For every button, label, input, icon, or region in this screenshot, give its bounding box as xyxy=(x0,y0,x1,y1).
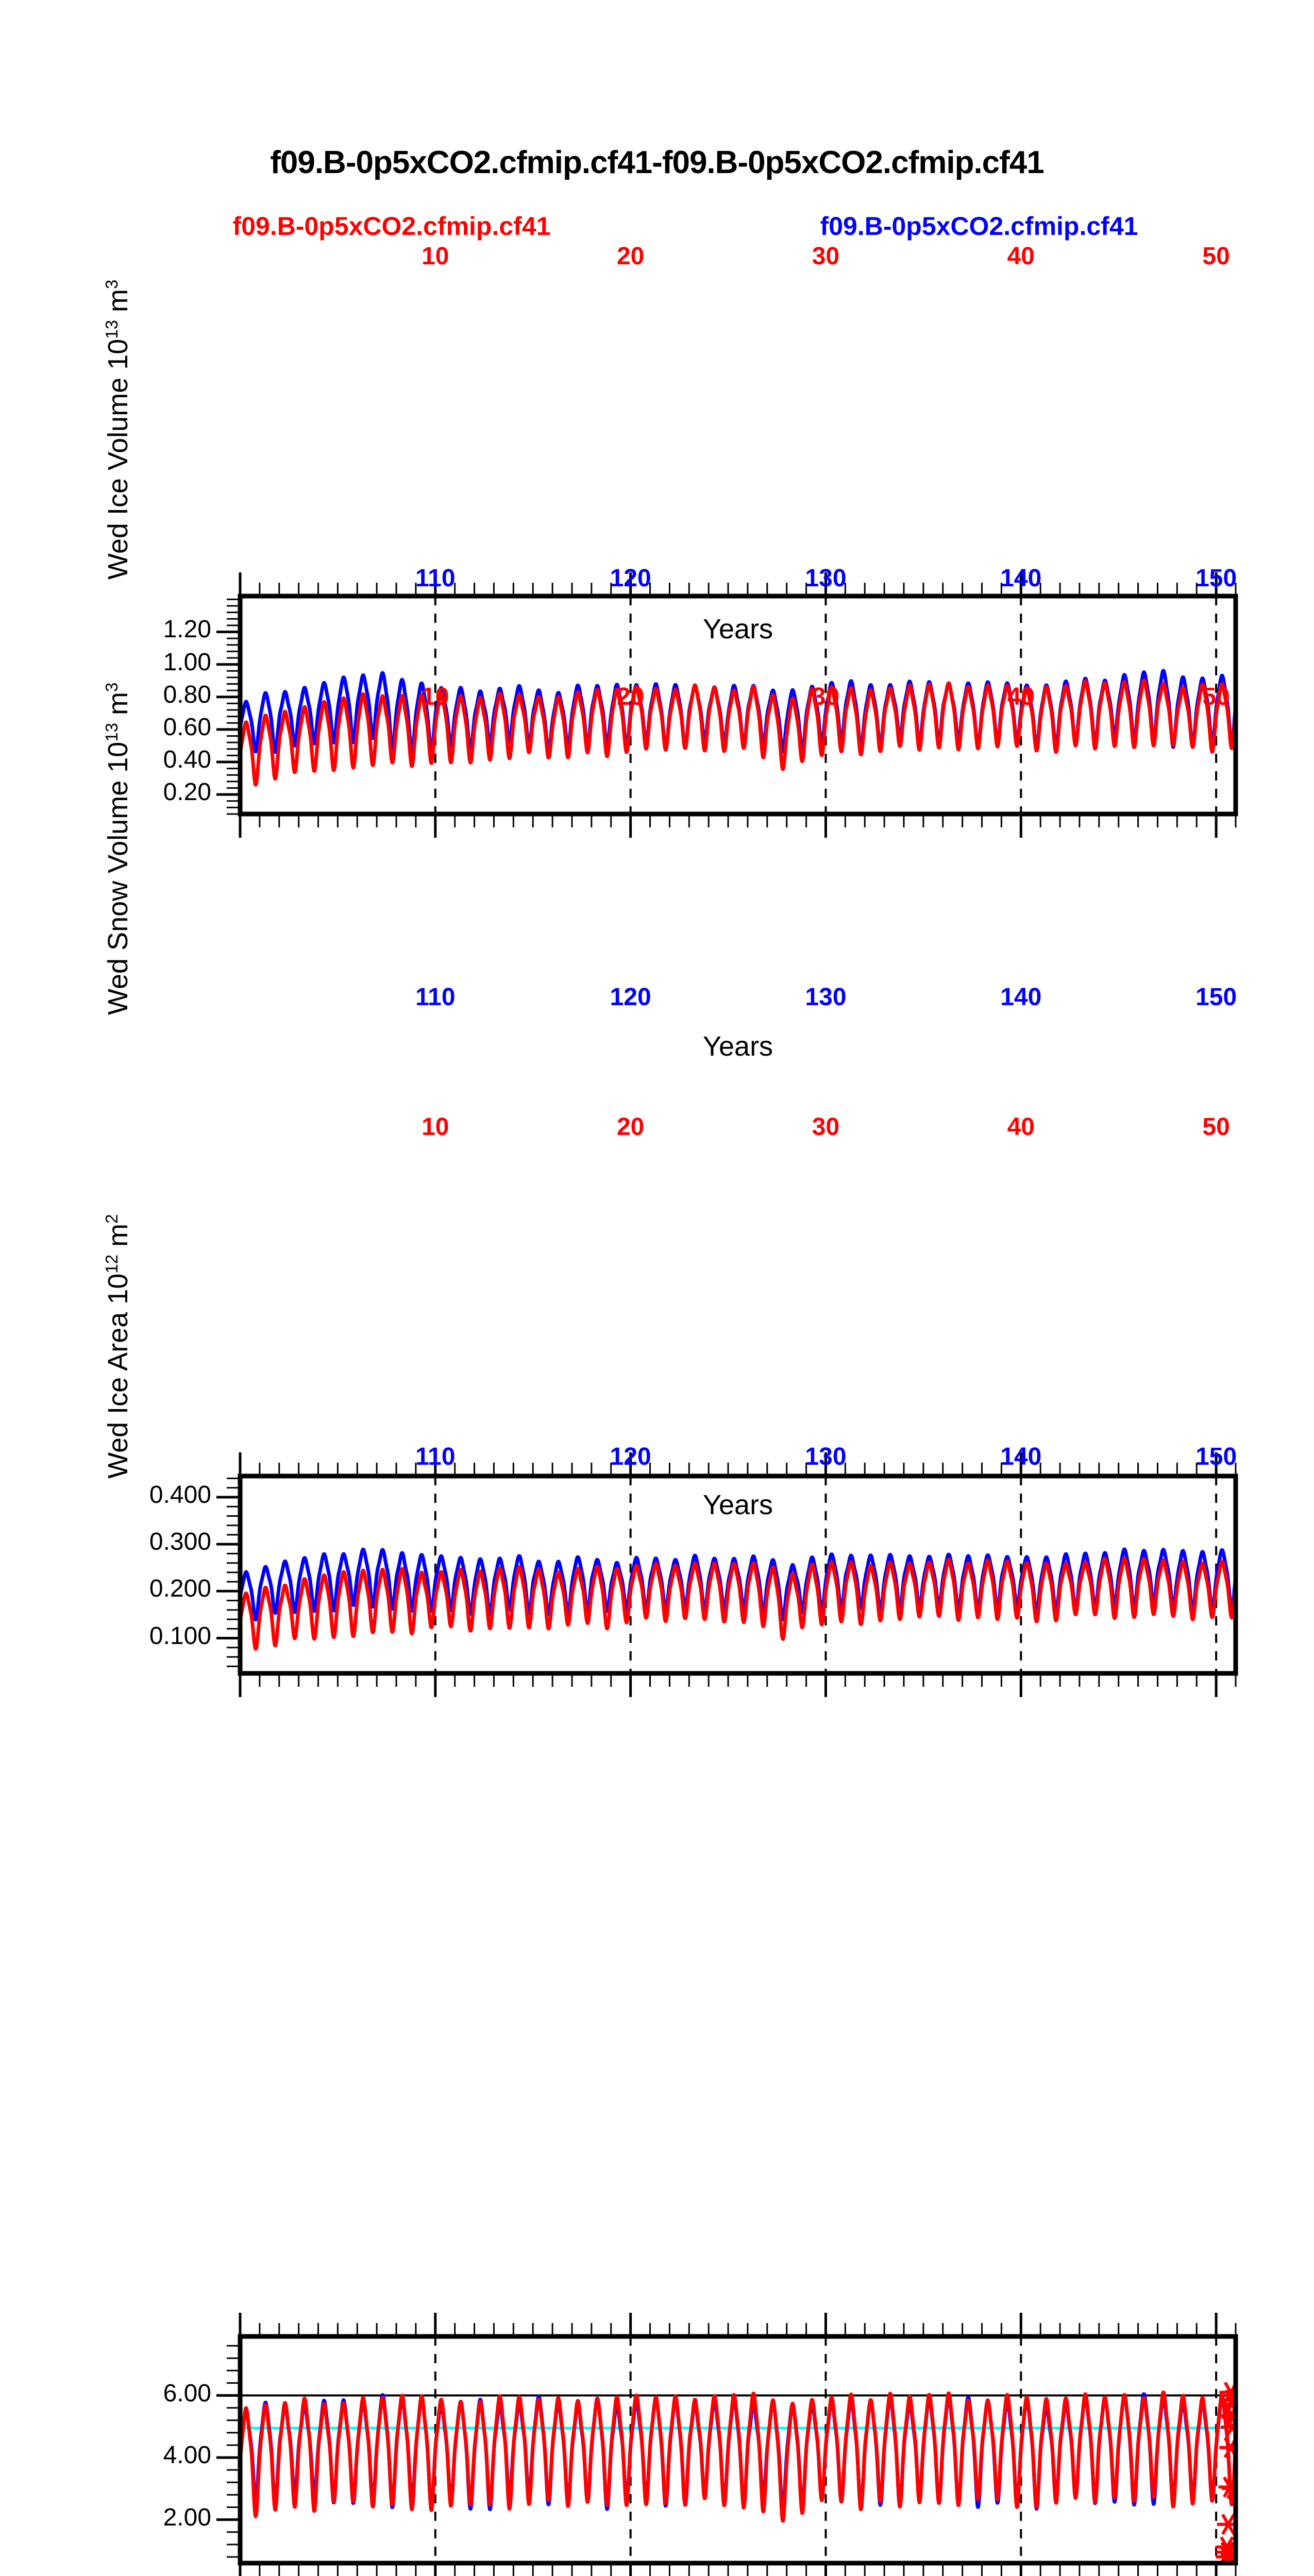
bottom-axis-tick-label: 130 xyxy=(764,983,887,1011)
bottom-axis-tick-label: 150 xyxy=(1154,983,1278,1011)
top-axis-tick-label: 10 xyxy=(384,242,487,270)
bottom-axis-tick-label: 110 xyxy=(374,983,497,1011)
top-axis-tick-label: 10 xyxy=(384,683,487,711)
x-axis-label: Years xyxy=(240,1030,1236,1062)
legend-label-red: f09.B-0p5xCO2.cfmip.cf41 xyxy=(186,211,598,241)
y-axis-tick-label: 1.00 xyxy=(72,648,211,676)
y-axis-tick-label: 0.200 xyxy=(72,1574,211,1603)
y-axis-label: Wed Snow Volume 1013 m3 xyxy=(102,683,134,1015)
top-axis-tick-label: 20 xyxy=(579,242,682,270)
y-axis-tick-label: 4.00 xyxy=(72,2441,211,2469)
y-axis-label: Wed Ice Volume 1013 m3 xyxy=(102,280,134,580)
y-axis-tick-label: 0.300 xyxy=(72,1528,211,1556)
top-axis-tick-label: 40 xyxy=(969,1113,1072,1141)
top-axis-tick-label: 30 xyxy=(774,683,877,711)
top-axis-tick-label: 50 xyxy=(1165,1113,1268,1141)
bottom-axis-tick-label: 120 xyxy=(569,564,693,592)
top-axis-tick-label: 30 xyxy=(774,1113,877,1141)
top-axis-tick-label: 10 xyxy=(384,1113,487,1141)
bottom-axis-tick-label: 120 xyxy=(569,983,693,1011)
bottom-axis-tick-label: 120 xyxy=(569,1443,693,1471)
top-axis-tick-label: 50 xyxy=(1165,242,1268,270)
y-axis-tick-label: 0.20 xyxy=(72,778,211,806)
bottom-axis-tick-label: 130 xyxy=(764,564,887,592)
bottom-axis-tick-label: 150 xyxy=(1154,1443,1278,1471)
x-axis-label: Years xyxy=(240,1489,1236,1521)
y-axis-tick-label: 0.400 xyxy=(72,1481,211,1509)
bottom-axis-tick-label: 140 xyxy=(959,1443,1083,1471)
top-axis-tick-label: 20 xyxy=(579,683,682,711)
bottom-axis-tick-label: 130 xyxy=(764,1443,887,1471)
top-axis-tick-label: 30 xyxy=(774,242,877,270)
y-axis-tick-label: 2.00 xyxy=(72,2503,211,2532)
y-axis-tick-label: 0.80 xyxy=(72,681,211,709)
y-axis-tick-label: 1.20 xyxy=(72,615,211,643)
top-axis-tick-label: 50 xyxy=(1165,683,1268,711)
legend-label-blue: f09.B-0p5xCO2.cfmip.cf41 xyxy=(773,211,1185,241)
y-axis-tick-label: 6.00 xyxy=(72,2379,211,2408)
x-axis-label: Years xyxy=(240,613,1236,645)
top-axis-tick-label: 40 xyxy=(969,683,1072,711)
bottom-axis-tick-label: 110 xyxy=(374,1443,497,1471)
bottom-axis-tick-label: 140 xyxy=(959,564,1083,592)
bottom-axis-tick-label: 140 xyxy=(959,983,1083,1011)
y-axis-tick-label: 0.40 xyxy=(72,745,211,774)
figure-root: f09.B-0p5xCO2.cfmip.cf41-f09.B-0p5xCO2.c… xyxy=(0,0,1314,1700)
y-axis-tick-label: 0.100 xyxy=(72,1622,211,1650)
page-title: f09.B-0p5xCO2.cfmip.cf41-f09.B-0p5xCO2.c… xyxy=(0,144,1314,181)
bottom-axis-tick-label: 110 xyxy=(374,564,497,592)
top-axis-tick-label: 40 xyxy=(969,242,1072,270)
top-axis-tick-label: 20 xyxy=(579,1113,682,1141)
y-axis-tick-label: 0.60 xyxy=(72,713,211,741)
y-axis-label: Wed Ice Area 1012 m2 xyxy=(102,1214,134,1479)
bottom-axis-tick-label: 150 xyxy=(1154,564,1278,592)
